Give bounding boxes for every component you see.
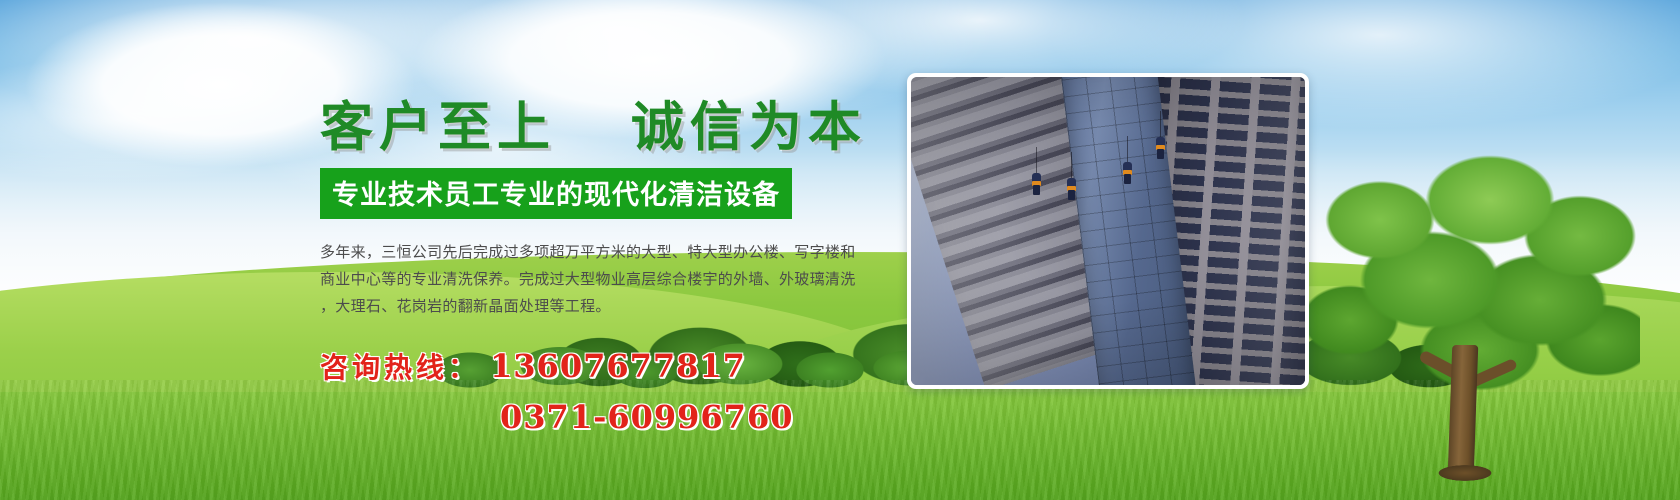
headline-part-1: 客户至上 — [320, 96, 556, 158]
hotline-mobile-number[interactable]: 13607677817 — [490, 347, 746, 385]
tree-trunk — [1448, 345, 1479, 475]
description-paragraph: 多年来，三恒公司先后完成过多项超万平方米的大型、特大型办公楼、写字楼和 商业中心… — [320, 239, 890, 320]
banner-text-column: 客户至上 诚信为本 专业技术员工专业的现代化清洁设备 多年来，三恒公司先后完成过… — [320, 96, 900, 436]
description-line-1: 多年来，三恒公司先后完成过多项超万平方米的大型、特大型办公楼、写字楼和 — [320, 239, 890, 266]
tree-root-base — [1428, 462, 1502, 484]
large-tree — [1300, 150, 1640, 500]
hotline-row: 咨询热线： 13607677817 — [320, 346, 900, 386]
promo-banner: 客户至上 诚信为本 专业技术员工专业的现代化清洁设备 多年来，三恒公司先后完成过… — [0, 0, 1680, 500]
headline: 客户至上 诚信为本 — [320, 96, 900, 158]
description-line-3: ，大理石、花岗岩的翻新晶面处理等工程。 — [320, 293, 890, 320]
headline-part-2: 诚信为本 — [631, 96, 867, 158]
building-photo-frame — [907, 73, 1309, 389]
description-line-2: 商业中心等的专业清洗保养。完成过大型物业高层综合楼宇的外墙、外玻璃清洗 — [320, 266, 890, 293]
hotline-label: 咨询热线： — [320, 346, 480, 386]
subtitle-bar: 专业技术员工专业的现代化清洁设备 — [320, 168, 792, 219]
photo-vignette — [911, 77, 1305, 385]
hotline-landline-number[interactable]: 0371-60996760 — [500, 398, 900, 436]
building-photo — [911, 77, 1305, 385]
